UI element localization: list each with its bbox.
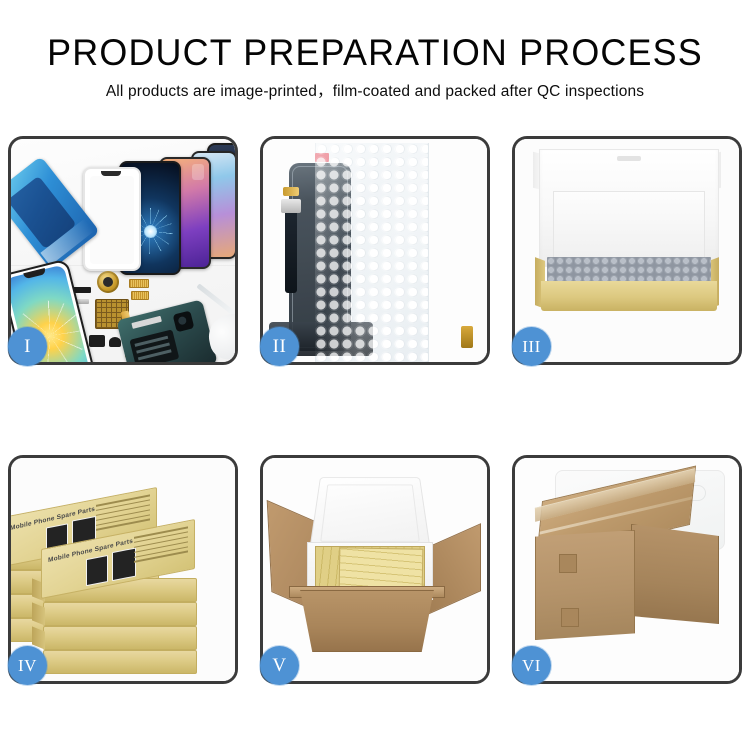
connector-block (281, 199, 301, 213)
phone-teardown-board (116, 299, 217, 362)
process-step-panel-5[interactable]: V (260, 455, 490, 684)
bubble-padding-inside (547, 257, 711, 283)
phones-and-parts-illustration: 08:08 (11, 139, 235, 362)
page-title: PRODUCT PREPARATION PROCESS (11, 0, 739, 71)
camera-module-part (89, 335, 105, 347)
phone-front-glass-panel (83, 167, 141, 271)
box-window-screen (112, 548, 136, 582)
flex-contact-part (129, 279, 149, 288)
process-step-panel-6[interactable]: VI (512, 455, 742, 684)
page-subtitle: All products are image-printed，film-coat… (0, 71, 750, 100)
page-header: PRODUCT PREPARATION PROCESS All products… (0, 0, 750, 100)
step-badge-5: V (260, 646, 299, 685)
speaker-part (109, 337, 121, 347)
product-preparation-process-page: PRODUCT PREPARATION PROCESS All products… (0, 0, 750, 750)
process-step-panel-3[interactable]: III (512, 136, 742, 365)
carton-front-wall (291, 590, 443, 652)
bubble-wrapped-part-illustration (263, 139, 487, 362)
flex-ribbon (285, 205, 297, 293)
panel-4-image: Mobile Phone Spare Parts Mobile Phone Sp… (11, 458, 235, 681)
flex-contact-part (131, 291, 149, 300)
gold-contact-right (461, 326, 473, 348)
step-badge-6: VI (512, 646, 551, 685)
stacked-box (43, 602, 197, 626)
speaker-coil-part (97, 271, 119, 293)
panel-5-image (263, 458, 487, 681)
box-checklist (134, 526, 188, 570)
process-step-panel-2[interactable]: II (260, 136, 490, 365)
step-badge-1: I (8, 327, 47, 366)
foam-box-lid (309, 477, 431, 552)
carton-tape-tab (561, 608, 579, 627)
carton-side-face (631, 524, 719, 624)
carton-tape-tab (559, 554, 577, 573)
step-badge-4: IV (8, 646, 47, 685)
panel-3-image (515, 139, 739, 362)
step-badge-3: III (512, 327, 551, 366)
sealed-carton-illustration (515, 458, 739, 681)
step-badge-2: II (260, 327, 299, 366)
panel-6-image (515, 458, 739, 681)
process-step-panel-1[interactable]: 08:08 (8, 136, 238, 365)
kraft-tray-front (541, 281, 717, 311)
process-step-panel-4[interactable]: Mobile Phone Spare Parts Mobile Phone Sp… (8, 455, 238, 684)
gold-pad (283, 187, 299, 196)
foam-sheet (553, 191, 705, 259)
open-kraft-box-illustration (515, 139, 739, 362)
stacked-box (43, 626, 197, 650)
process-step-grid: 08:08 (8, 136, 742, 684)
panel-2-image (263, 139, 487, 362)
plastic-sheen-overlay (315, 143, 427, 362)
stacked-box (43, 650, 197, 674)
panel-1-image: 08:08 (11, 139, 235, 362)
box-window-screen (86, 555, 108, 586)
carton-front-face (535, 530, 635, 640)
carton-with-foam-box-illustration (263, 458, 487, 681)
box-stack-illustration: Mobile Phone Spare Parts Mobile Phone Sp… (11, 458, 235, 681)
